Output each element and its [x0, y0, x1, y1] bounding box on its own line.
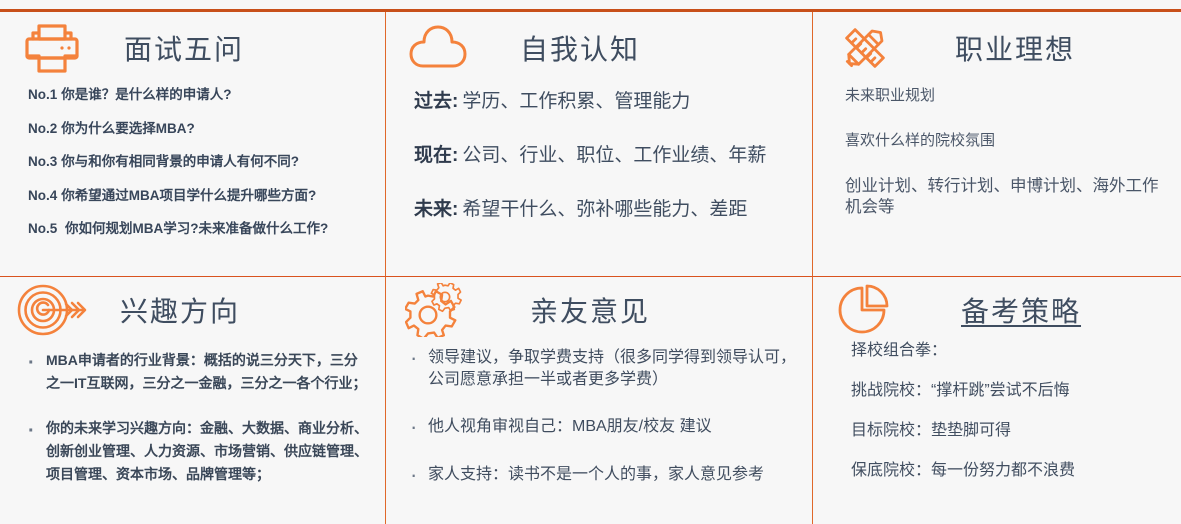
term-label: 未来: — [414, 199, 458, 220]
panel-title: 备考策略 — [961, 290, 1081, 330]
pencil-ruler-icon — [827, 17, 903, 79]
question-list: No.1你是谁？是什么样的申请人? No.2你为什么要选择MBA? No.3你与… — [28, 88, 371, 236]
definition-list: 过去:学历、工作积累、管理能力 现在:公司、行业、职位、工作业绩、年薪 未来:希… — [414, 92, 798, 219]
plain-list: 未来职业规划 喜欢什么样的院校氛围 创业计划、转行计划、申博计划、海外工作机会等 — [845, 86, 1165, 219]
panel-title: 职业理想 — [955, 28, 1075, 68]
list-item: 他人视角审视自己：MBA朋友/校友 建议 — [404, 416, 798, 438]
gears-icon — [400, 279, 476, 341]
panel-title: 亲友意见 — [530, 290, 650, 330]
panel-career-ideal: 职业理想 未来职业规划 喜欢什么样的院校氛围 创业计划、转行计划、申博计划、海外… — [813, 12, 1181, 277]
list-item: MBA申请者的行业背景：概括的说三分天下，三分之一IT互联网，三分之一金融，三分… — [24, 349, 371, 395]
panel-friends-family-opinion: 亲友意见 领导建议，争取学费支持（很多同学得到领导认可，公司愿意承担一半或者更多… — [386, 277, 813, 524]
panel-interest-direction: 兴趣方向 MBA申请者的行业背景：概括的说三分天下，三分之一IT互联网，三分之一… — [0, 277, 386, 524]
strategy-list: 择校组合拳： 挑战院校：“撑杆跳”尝试不后悔 目标院校：垫垫脚可得 保底院校：每… — [851, 343, 1167, 479]
panel-title: 兴趣方向 — [120, 290, 240, 330]
term-value: 学历、工作积累、管理能力 — [462, 91, 690, 112]
panel-header: 备考策略 — [827, 277, 1167, 343]
panel-title: 自我认知 — [520, 28, 640, 68]
question-number: No.3 — [28, 154, 57, 169]
list-item: No.4你希望通过MBA项目学什么提升哪些方面? — [28, 189, 371, 203]
question-number: No.4 — [28, 188, 57, 203]
list-item: 未来:希望干什么、弥补哪些能力、差距 — [414, 200, 798, 219]
list-item: 挑战院校：“撑杆跳”尝试不后悔 — [851, 383, 1167, 399]
panel-header: 兴趣方向 — [14, 277, 371, 343]
question-text: 你如何规划MBA学习?未来准备做什么工作? — [65, 221, 328, 236]
bullet-list: 领导建议，争取学费支持（很多同学得到领导认可，公司愿意承担一半或者更多学费） 他… — [404, 347, 798, 485]
panel-title: 面试五问 — [124, 28, 244, 68]
question-number: No.5 — [28, 221, 57, 236]
list-item: 保底院校：每一份努力都不浪费 — [851, 463, 1167, 479]
list-item: 创业计划、转行计划、申博计划、海外工作机会等 — [845, 176, 1165, 220]
list-item: 目标院校：垫垫脚可得 — [851, 423, 1167, 439]
pie-chart-icon — [827, 279, 903, 341]
list-item: No.3你与和你有相同背景的申请人有何不同? — [28, 155, 371, 169]
list-item: 领导建议，争取学费支持（很多同学得到领导认可，公司愿意承担一半或者更多学费） — [404, 347, 798, 390]
question-number: No.2 — [28, 121, 57, 136]
panel-exam-preparation-strategy: 备考策略 择校组合拳： 挑战院校：“撑杆跳”尝试不后悔 目标院校：垫垫脚可得 保… — [813, 277, 1181, 524]
panel-header: 亲友意见 — [400, 277, 798, 343]
cloud-icon — [400, 17, 476, 79]
question-text: 你与和你有相同背景的申请人有何不同? — [61, 154, 299, 169]
content-grid: 面试五问 No.1你是谁？是什么样的申请人? No.2你为什么要选择MBA? N… — [0, 12, 1181, 524]
list-item: No.2你为什么要选择MBA? — [28, 122, 371, 136]
term-label: 过去: — [414, 91, 458, 112]
panel-header: 职业理想 — [827, 12, 1167, 84]
question-text: 你是谁？是什么样的申请人? — [61, 87, 231, 102]
list-item: No.5 你如何规划MBA学习?未来准备做什么工作? — [28, 222, 371, 236]
term-label: 现在: — [414, 145, 458, 166]
bullet-list: MBA申请者的行业背景：概括的说三分天下，三分之一IT互联网，三分之一金融，三分… — [24, 349, 371, 486]
panel-header: 自我认知 — [400, 12, 798, 84]
list-item: 未来职业规划 — [845, 86, 1165, 106]
question-text: 你为什么要选择MBA? — [61, 121, 195, 136]
question-text: 你希望通过MBA项目学什么提升哪些方面? — [61, 188, 316, 203]
list-item: 现在:公司、行业、职位、工作业绩、年薪 — [414, 146, 798, 165]
list-item: 你的未来学习兴趣方向：金融、大数据、商业分析、创新创业管理、人力资源、市场营销、… — [24, 417, 371, 486]
list-item: 家人支持：读书不是一个人的事，家人意见参考 — [404, 464, 798, 486]
question-number: No.1 — [28, 87, 57, 102]
term-value: 公司、行业、职位、工作业绩、年薪 — [462, 145, 766, 166]
term-value: 希望干什么、弥补哪些能力、差距 — [462, 199, 747, 220]
panel-interview-five-questions: 面试五问 No.1你是谁？是什么样的申请人? No.2你为什么要选择MBA? N… — [0, 12, 386, 277]
list-item: 择校组合拳： — [851, 343, 1167, 359]
target-arrow-icon — [14, 279, 90, 341]
panel-header: 面试五问 — [14, 12, 371, 84]
printer-icon — [14, 17, 90, 79]
list-item: 过去:学历、工作积累、管理能力 — [414, 92, 798, 111]
list-item: 喜欢什么样的院校氛围 — [845, 131, 1165, 151]
list-item: No.1你是谁？是什么样的申请人? — [28, 88, 371, 102]
panel-self-awareness: 自我认知 过去:学历、工作积累、管理能力 现在:公司、行业、职位、工作业绩、年薪… — [386, 12, 813, 277]
